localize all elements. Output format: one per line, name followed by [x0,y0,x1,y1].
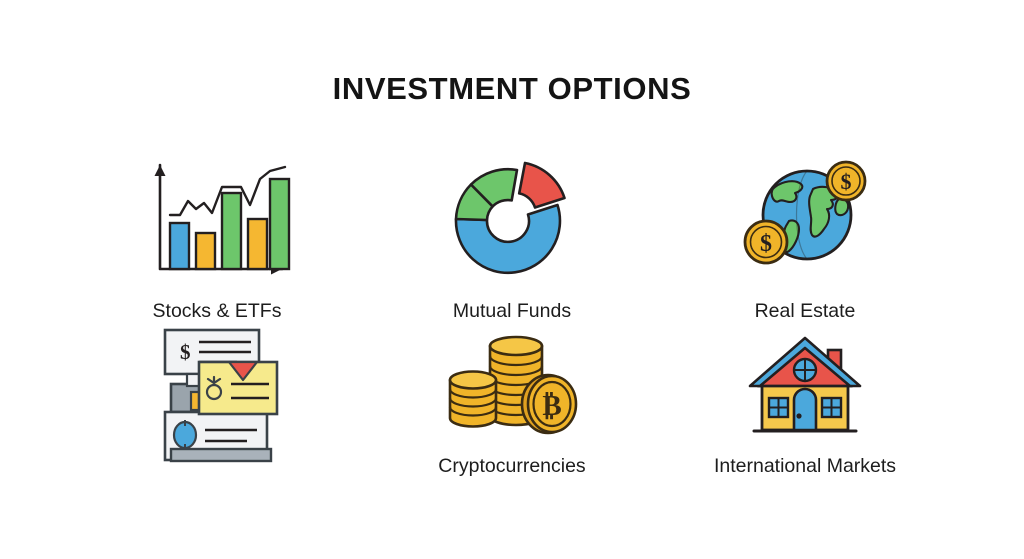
option-card-international-markets[interactable]: International Markets [680,322,930,478]
option-card-mutual-funds[interactable]: Mutual Funds [387,155,637,323]
option-label: Cryptocurrencies [387,454,637,478]
infographic-canvas: INVESTMENT OPTIONS [0,0,1024,559]
option-label: Stocks & ETFs [92,299,342,323]
bar-chart-growth-icon [92,155,342,285]
option-card-bonds-documents[interactable]: $ [92,322,342,472]
svg-text:$: $ [760,231,772,257]
dollar-coin-bottom: $ [745,221,787,263]
option-card-stocks-etfs[interactable]: Stocks & ETFs [92,155,342,323]
options-grid: Stocks & ETFs [0,150,1024,550]
option-card-cryptocurrencies[interactable]: ₿ Cryptocurrencies [387,322,637,478]
option-label: International Markets [680,454,930,478]
donut-chart-icon [387,155,637,285]
globe-with-dollar-coins-icon: $ $ [680,155,930,285]
page-title: INVESTMENT OPTIONS [0,70,1024,107]
option-card-real-estate[interactable]: $ $ Real Estate [680,155,930,323]
svg-text:₿: ₿ [542,390,561,422]
financial-documents-icon: $ [92,322,342,472]
svg-text:$: $ [841,169,852,194]
dollar-coin-top: $ [827,162,865,200]
svg-text:$: $ [180,340,191,364]
coin-stacks-bitcoin-icon: ₿ [387,322,637,440]
option-label: Mutual Funds [387,299,637,323]
house-icon [680,322,930,440]
option-label: Real Estate [680,299,930,323]
